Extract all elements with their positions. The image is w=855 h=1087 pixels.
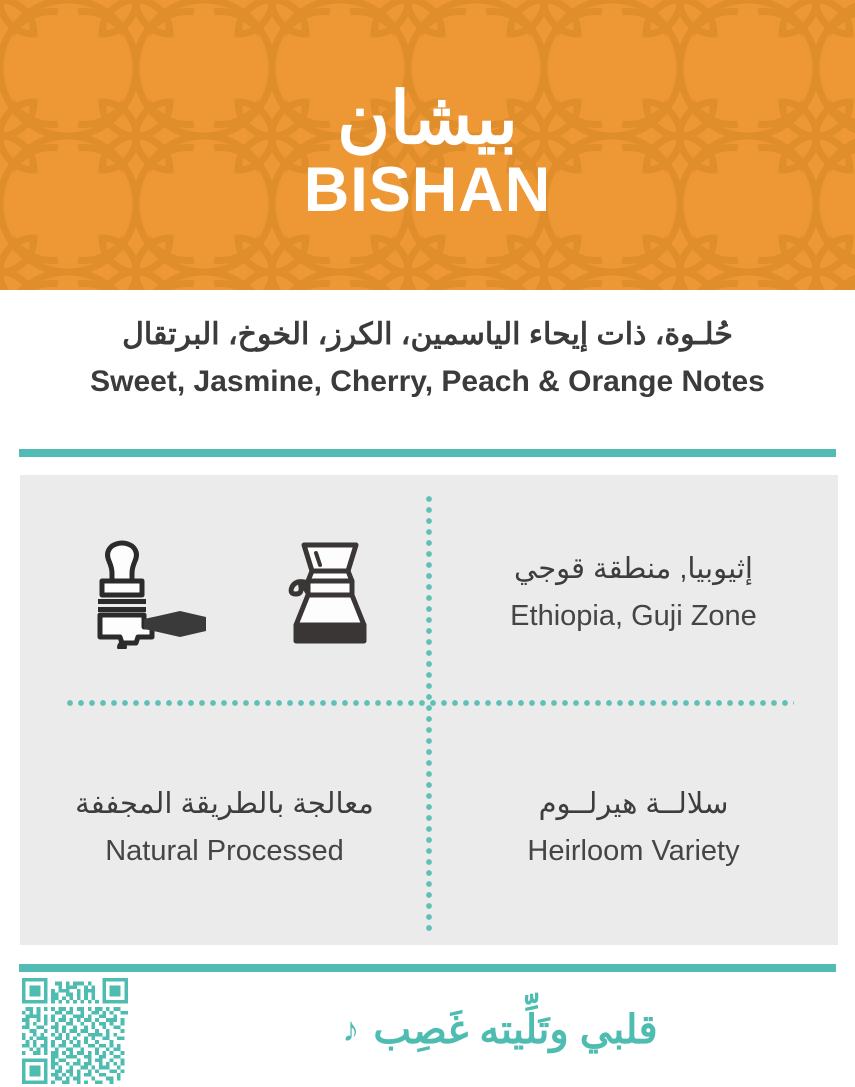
cell-brew-methods [20,475,429,710]
song-line: قلبي وتَلِّيته غَصِب ♪ [180,976,820,1084]
divider-rule-top [19,449,836,457]
cell-process: معالجة بالطريقة المجففة Natural Processe… [20,710,429,945]
origin-arabic: إثيوبيا, منطقة قوجي [514,551,753,589]
variety-arabic: سلالــة هيرلــوم [539,786,729,824]
brew-method-icons [72,537,378,649]
tasting-notes-arabic: حُلـوة، ذات إيحاء الياسمين، الكرز، الخوخ… [20,316,835,354]
page-title-english: BISHAN [304,159,552,222]
info-grid: إثيوبيا, منطقة قوجي Ethiopia, Guji Zone … [20,475,838,945]
process-arabic: معالجة بالطريقة المجففة [75,786,374,824]
tasting-notes-english: Sweet, Jasmine, Cherry, Peach & Orange N… [20,364,835,400]
page-title-arabic: بيشان [337,82,518,158]
music-note-icon: ♪ [342,1013,359,1047]
song-title-arabic: قلبي وتَلِّيته غَصِب [373,1006,657,1054]
footer: قلبي وتَلِّيته غَصِب ♪ [0,976,855,1087]
origin-english: Ethiopia, Guji Zone [510,599,757,634]
info-panel: إثيوبيا, منطقة قوجي Ethiopia, Guji Zone … [20,475,838,945]
process-english: Natural Processed [105,834,344,869]
tasting-notes: حُلـوة، ذات إيحاء الياسمين، الكرز، الخوخ… [0,290,855,400]
qr-code[interactable] [22,978,128,1084]
variety-english: Heirloom Variety [527,834,739,869]
espresso-tamper-portafilter-icon [72,537,212,649]
cell-origin: إثيوبيا, منطقة قوجي Ethiopia, Guji Zone [429,475,838,710]
chemex-pourover-icon [282,537,378,649]
divider-rule-bottom [19,964,836,972]
header-banner: بيشان BISHAN [0,0,855,290]
cell-variety: سلالــة هيرلــوم Heirloom Variety [429,710,838,945]
